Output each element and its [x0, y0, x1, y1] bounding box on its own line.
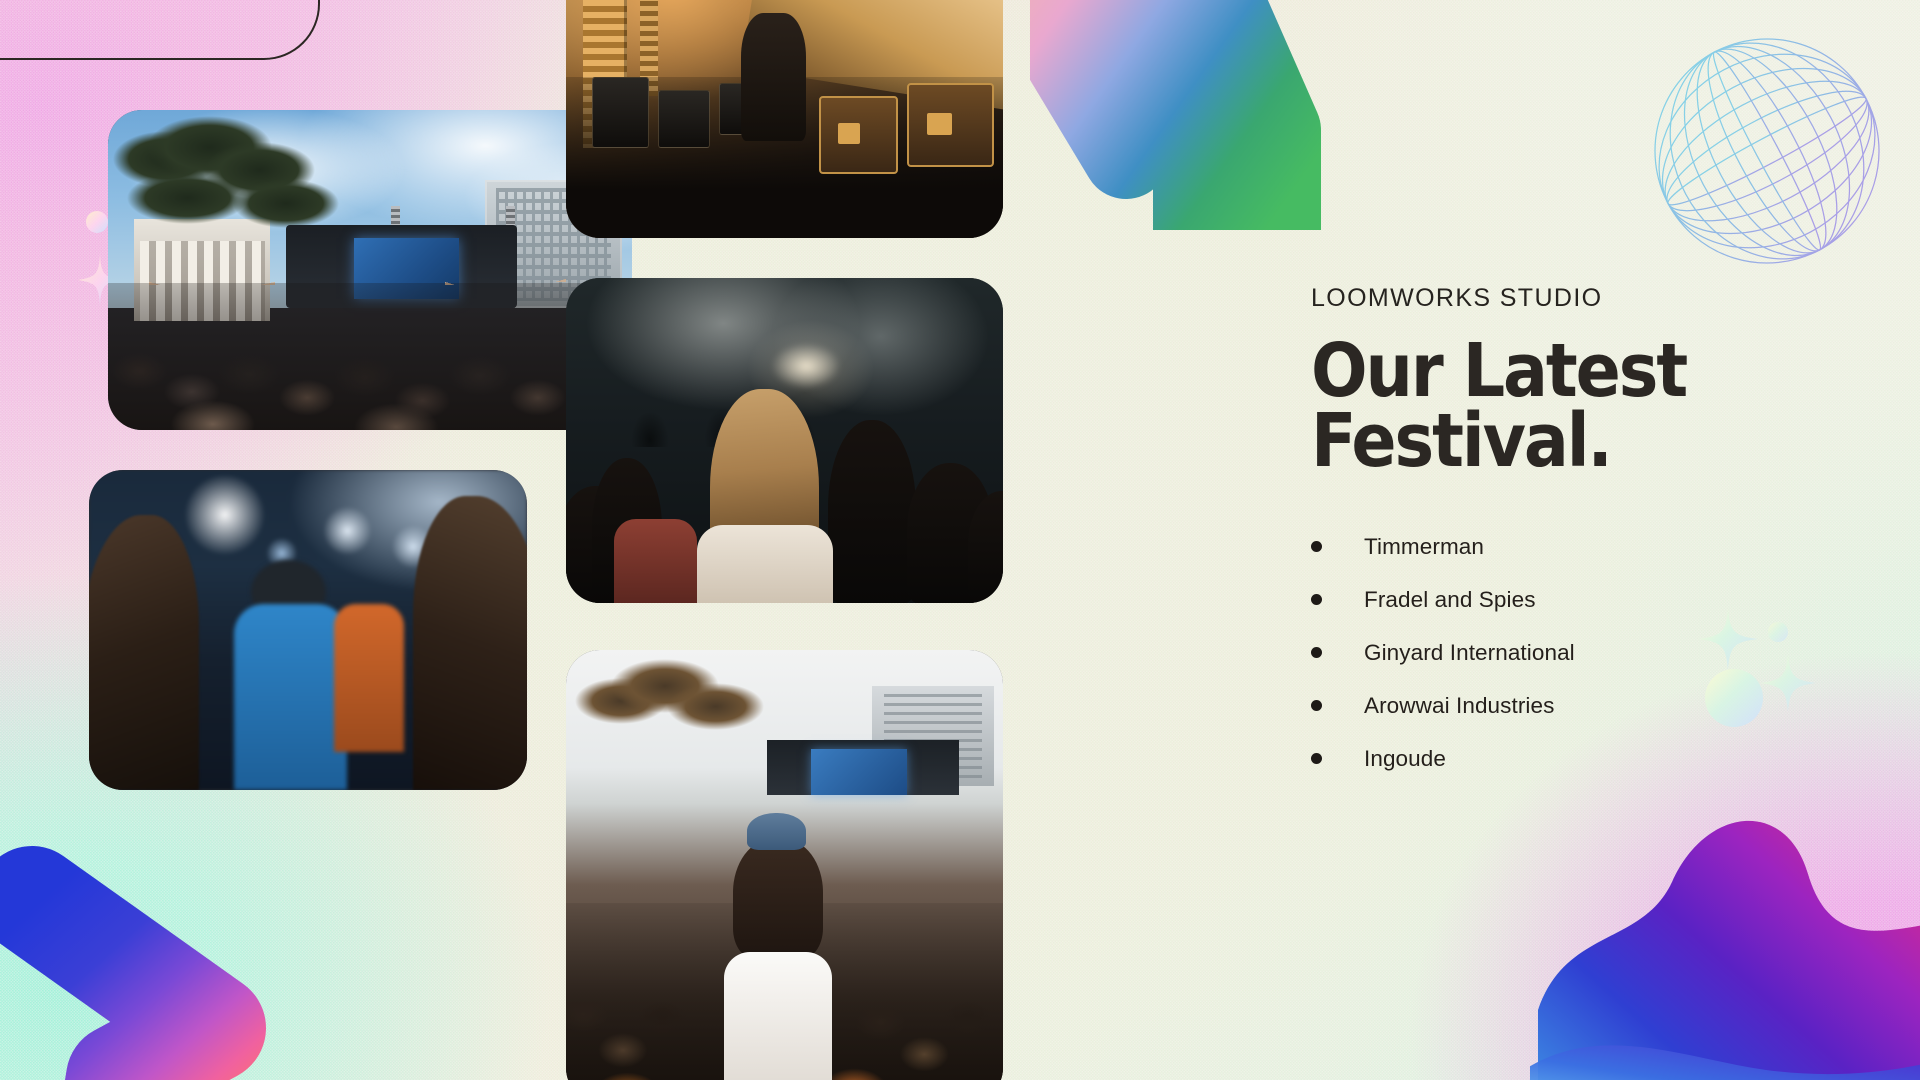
bullet-dot-icon: [1311, 753, 1322, 764]
list-item[interactable]: Ingoude: [1311, 732, 1781, 785]
photo-smoky-crowd-heads[interactable]: [566, 278, 1003, 603]
photo-daytime-stage-crowd[interactable]: [108, 110, 632, 430]
page-title-line-1: Our Latest: [1311, 337, 1781, 407]
list-item-label: Timmerman: [1364, 534, 1484, 560]
list-item[interactable]: Arowwai Industries: [1311, 679, 1781, 732]
studio-eyebrow: LOOMWORKS STUDIO: [1311, 284, 1781, 313]
list-item-label: Fradel and Spies: [1364, 587, 1536, 613]
bullet-dot-icon: [1311, 541, 1322, 552]
photo-festival-white-shirt[interactable]: [566, 650, 1003, 1080]
list-item[interactable]: Fradel and Spies: [1311, 573, 1781, 626]
poster-canvas: LOOMWORKS STUDIO Our Latest Festival. Ti…: [0, 0, 1920, 1080]
photo-stage-rig-backstage[interactable]: [566, 0, 1003, 238]
list-item[interactable]: Timmerman: [1311, 520, 1781, 573]
list-item-label: Ingoude: [1364, 746, 1446, 772]
photo-bokeh-blurred-crowd[interactable]: [89, 470, 527, 790]
list-item[interactable]: Ginyard International: [1311, 626, 1781, 679]
text-column: LOOMWORKS STUDIO Our Latest Festival. Ti…: [1311, 284, 1781, 785]
list-item-label: Ginyard International: [1364, 640, 1575, 666]
sponsor-list: Timmerman Fradel and Spies Ginyard Inter…: [1311, 520, 1781, 785]
list-item-label: Arowwai Industries: [1364, 693, 1554, 719]
bullet-dot-icon: [1311, 594, 1322, 605]
bullet-dot-icon: [1311, 700, 1322, 711]
bullet-dot-icon: [1311, 647, 1322, 658]
page-title: Our Latest Festival.: [1311, 337, 1781, 476]
page-title-line-2: Festival.: [1311, 407, 1781, 477]
